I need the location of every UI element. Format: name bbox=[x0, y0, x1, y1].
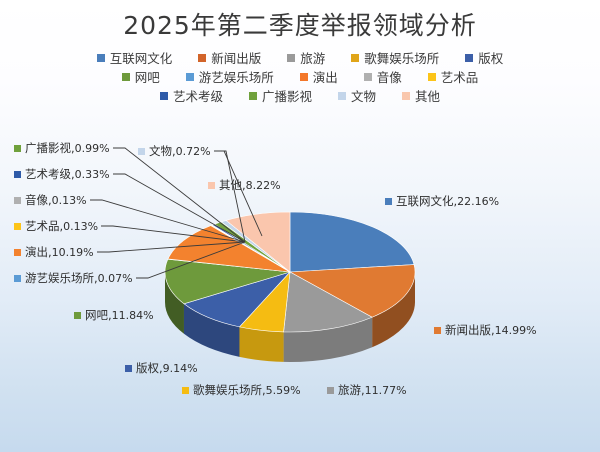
callout-percent: 0.33% bbox=[75, 168, 110, 181]
callout-swatch-icon bbox=[138, 148, 145, 155]
callout-percent: 0.07% bbox=[98, 272, 133, 285]
callout-swatch-icon bbox=[385, 198, 392, 205]
callout-互联网文化: 互联网文化, 22.16% bbox=[385, 193, 499, 209]
callout-swatch-icon bbox=[14, 145, 21, 152]
callout-游艺娱乐场所: 游艺娱乐场所, 0.07% bbox=[14, 270, 133, 286]
callout-label: 演出, bbox=[25, 244, 52, 260]
callout-label: 歌舞娱乐场所, bbox=[193, 382, 266, 398]
callout-旅游: 旅游, 11.77% bbox=[327, 382, 407, 398]
callout-艺术考级: 艺术考级, 0.33% bbox=[14, 166, 110, 182]
callout-其他: 其他, 8.22% bbox=[208, 177, 281, 193]
callout-广播影视: 广播影视, 0.99% bbox=[14, 140, 110, 156]
callout-新闻出版: 新闻出版, 14.99% bbox=[434, 322, 537, 338]
callout-label: 游艺娱乐场所, bbox=[25, 270, 98, 286]
callout-label: 互联网文化, bbox=[396, 193, 457, 209]
callout-label: 音像, bbox=[25, 192, 52, 208]
callout-label: 版权, bbox=[136, 360, 163, 376]
callout-swatch-icon bbox=[14, 197, 21, 204]
callout-label: 艺术品, bbox=[25, 218, 63, 234]
callout-swatch-icon bbox=[14, 249, 21, 256]
callout-版权: 版权, 9.14% bbox=[125, 360, 198, 376]
callout-swatch-icon bbox=[434, 327, 441, 334]
callout-label: 新闻出版, bbox=[445, 322, 495, 338]
callout-演出: 演出, 10.19% bbox=[14, 244, 94, 260]
callout-音像: 音像, 0.13% bbox=[14, 192, 87, 208]
callout-swatch-icon bbox=[182, 387, 189, 394]
callout-label: 广播影视, bbox=[25, 140, 75, 156]
callout-label: 其他, bbox=[219, 177, 246, 193]
callout-文物: 文物, 0.72% bbox=[138, 143, 211, 159]
callout-percent: 0.13% bbox=[63, 220, 98, 233]
callout-swatch-icon bbox=[14, 223, 21, 230]
callout-label: 网吧, bbox=[85, 307, 112, 323]
callout-percent: 5.59% bbox=[266, 384, 301, 397]
callout-percent: 0.99% bbox=[75, 142, 110, 155]
callout-艺术品: 艺术品, 0.13% bbox=[14, 218, 98, 234]
callout-歌舞娱乐场所: 歌舞娱乐场所, 5.59% bbox=[182, 382, 301, 398]
chart-canvas: 2025年第二季度举报领域分析 互联网文化新闻出版旅游歌舞娱乐场所版权 网吧游艺… bbox=[0, 0, 600, 452]
pie-slice-互联网文化[interactable]: 互联网文化, 22.16% bbox=[290, 212, 414, 272]
callout-percent: 8.22% bbox=[246, 179, 281, 192]
callout-网吧: 网吧, 11.84% bbox=[74, 307, 154, 323]
callout-percent: 9.14% bbox=[163, 362, 198, 375]
callout-percent: 10.19% bbox=[52, 246, 94, 259]
callout-swatch-icon bbox=[327, 387, 334, 394]
callout-percent: 11.84% bbox=[112, 309, 154, 322]
callout-swatch-icon bbox=[14, 171, 21, 178]
callout-percent: 14.99% bbox=[495, 324, 537, 337]
callout-label: 文物, bbox=[149, 143, 176, 159]
callout-label: 旅游, bbox=[338, 382, 365, 398]
callout-swatch-icon bbox=[125, 365, 132, 372]
callout-percent: 22.16% bbox=[457, 195, 499, 208]
callout-swatch-icon bbox=[74, 312, 81, 319]
callout-percent: 0.13% bbox=[52, 194, 87, 207]
pie-slice-side-歌舞娱乐场所 bbox=[239, 327, 283, 362]
callout-percent: 0.72% bbox=[176, 145, 211, 158]
callout-swatch-icon bbox=[14, 275, 21, 282]
callout-swatch-icon bbox=[208, 182, 215, 189]
callout-label: 艺术考级, bbox=[25, 166, 75, 182]
callout-percent: 11.77% bbox=[365, 384, 407, 397]
